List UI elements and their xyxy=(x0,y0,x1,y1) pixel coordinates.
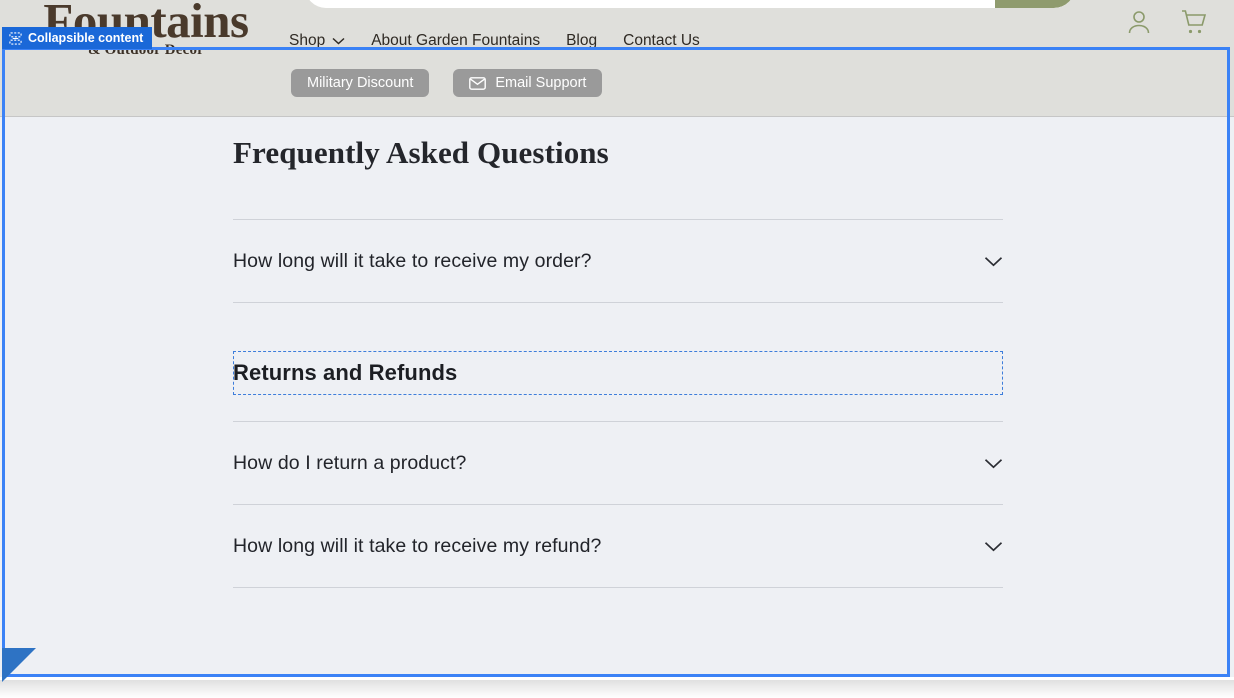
envelope-icon xyxy=(469,77,486,90)
search-bar[interactable] xyxy=(305,0,1075,8)
search-input[interactable] xyxy=(305,0,995,8)
military-discount-label: Military Discount xyxy=(307,75,413,91)
screenshot-root: Garden Fountains & Outdoor Decor xyxy=(0,0,1234,698)
faq-question-label: How do I return a product? xyxy=(233,452,466,475)
nav-item-label: Contact Us xyxy=(623,32,700,50)
site-header: Garden Fountains & Outdoor Decor xyxy=(0,0,1234,117)
military-discount-button[interactable]: Military Discount xyxy=(291,69,429,97)
header-icon-group xyxy=(1126,8,1208,36)
selection-badge: Collapsible content xyxy=(2,27,152,49)
faq-question-label: How long will it take to receive my refu… xyxy=(233,535,601,558)
faq-item-order-time[interactable]: How long will it take to receive my orde… xyxy=(233,220,1003,302)
faq-item-return-product[interactable]: How do I return a product? xyxy=(233,422,1003,504)
chevron-down-icon[interactable] xyxy=(984,458,1003,469)
nav-item-shop[interactable]: Shop xyxy=(289,32,345,50)
main-navigation: Shop About Garden Fountains Blog Contact… xyxy=(289,32,700,50)
promo-button-row: Military Discount Email Support xyxy=(291,69,602,97)
nav-item-about[interactable]: About Garden Fountains xyxy=(371,32,540,50)
email-support-label: Email Support xyxy=(495,75,586,91)
page-title: Frequently Asked Questions xyxy=(233,135,1003,171)
cart-icon[interactable] xyxy=(1180,8,1208,36)
chevron-down-icon[interactable] xyxy=(984,256,1003,267)
divider xyxy=(233,587,1003,588)
account-icon[interactable] xyxy=(1126,8,1152,36)
email-support-button[interactable]: Email Support xyxy=(453,69,602,97)
page-body: Frequently Asked Questions How long will… xyxy=(0,117,1234,677)
faq-item-refund-time[interactable]: How long will it take to receive my refu… xyxy=(233,505,1003,587)
faq-group-heading-returns-and-refunds[interactable]: Returns and Refunds xyxy=(233,351,1003,395)
nav-item-label: Shop xyxy=(289,32,325,50)
faq-question-label: How long will it take to receive my orde… xyxy=(233,250,592,273)
window-bottom-shadow xyxy=(0,680,1234,698)
nav-item-contact-us[interactable]: Contact Us xyxy=(623,32,700,50)
search-submit-button[interactable] xyxy=(995,0,1075,8)
nav-item-label: Blog xyxy=(566,32,597,50)
faq-group-heading-label: Returns and Refunds xyxy=(233,360,457,386)
chevron-down-icon xyxy=(332,37,345,45)
faq-section: Frequently Asked Questions How long will… xyxy=(233,135,1003,588)
nav-item-label: About Garden Fountains xyxy=(371,32,540,50)
collapsible-content-icon xyxy=(9,32,22,45)
chevron-down-icon[interactable] xyxy=(984,541,1003,552)
nav-item-blog[interactable]: Blog xyxy=(566,32,597,50)
selection-badge-label: Collapsible content xyxy=(28,31,143,45)
